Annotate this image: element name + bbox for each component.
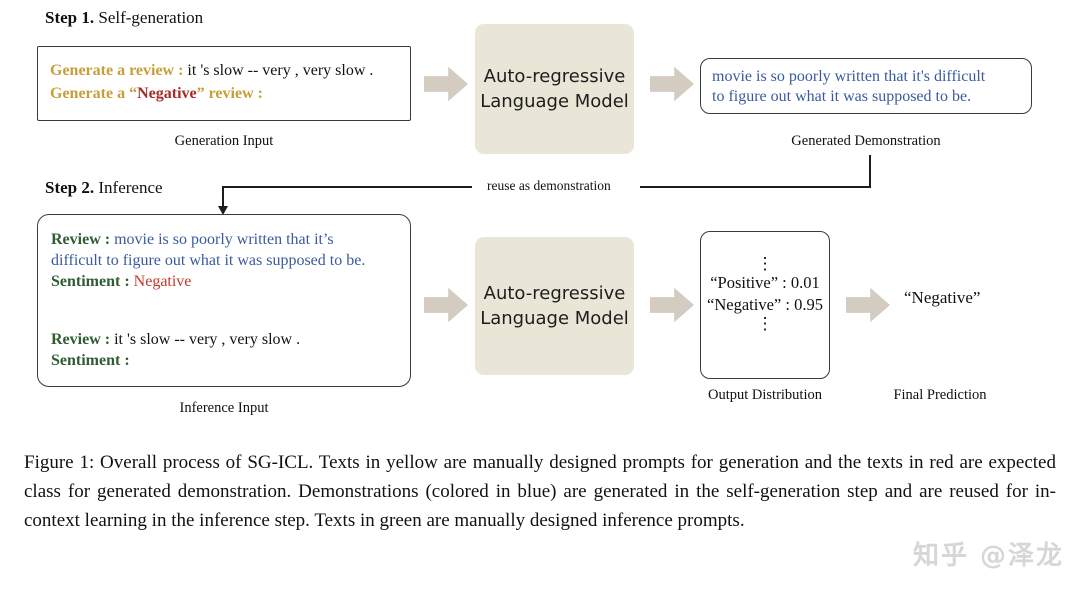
distribution-row-negative: “Negative” : 0.95 bbox=[701, 294, 829, 316]
connector-horizontal-right bbox=[640, 186, 871, 188]
inference-demo-review-line-1: Review : movie is so poorly written that… bbox=[51, 229, 334, 250]
language-model-box-1: Auto-regressive Language Model bbox=[475, 24, 634, 154]
output-distribution-content: ⋮ “Positive” : 0.01 “Negative” : 0.95 ⋮ bbox=[701, 256, 829, 332]
output-distribution-box: ⋮ “Positive” : 0.01 “Negative” : 0.95 ⋮ bbox=[700, 231, 830, 379]
inference-demo-sentiment-key: Sentiment : bbox=[51, 273, 130, 290]
generated-demo-line-2: to figure out what it was supposed to be… bbox=[712, 86, 971, 107]
generation-prompt-line-1: Generate a review : it 's slow -- very ,… bbox=[50, 60, 373, 81]
distribution-row-negative-sep: : bbox=[781, 295, 794, 314]
arrow-right-icon-1 bbox=[424, 66, 468, 102]
step-1-number: Step 1. bbox=[45, 8, 94, 27]
inference-test-sentiment-line: Sentiment : bbox=[51, 350, 130, 371]
distribution-row-negative-class: “Negative” bbox=[707, 295, 781, 314]
inference-input-box: Review : movie is so poorly written that… bbox=[37, 214, 411, 387]
generation-input-label: Generation Input bbox=[37, 133, 411, 150]
generated-demonstration-label: Generated Demonstration bbox=[700, 133, 1032, 150]
generation-input-box: Generate a review : it 's slow -- very ,… bbox=[37, 46, 411, 121]
connector-vertical-left bbox=[222, 186, 224, 208]
final-prediction-value: “Negative” bbox=[904, 288, 980, 308]
ellipsis-top-icon: ⋮ bbox=[701, 256, 829, 272]
generated-demonstration-box: movie is so poorly written that it's dif… bbox=[700, 58, 1032, 114]
step-1-title: Self-generation bbox=[98, 8, 203, 27]
inference-demo-review-text-1: movie is so poorly written that it’s bbox=[114, 231, 334, 248]
lm-box-2-line-2: Language Model bbox=[480, 306, 629, 331]
inference-demo-review-key: Review : bbox=[51, 231, 110, 248]
distribution-row-positive: “Positive” : 0.01 bbox=[701, 272, 829, 294]
final-prediction-label: Final Prediction bbox=[865, 387, 1015, 404]
step-1-heading: Step 1. Self-generation bbox=[45, 8, 203, 28]
zhihu-watermark: 知乎 @泽龙 bbox=[913, 535, 1064, 572]
connector-horizontal-left bbox=[222, 186, 472, 188]
generation-prompt-line-2: Generate a “Negative” review : bbox=[50, 83, 263, 104]
distribution-row-positive-prob: 0.01 bbox=[791, 273, 820, 292]
step-2-number: Step 2. bbox=[45, 178, 94, 197]
inference-test-sentiment-key: Sentiment : bbox=[51, 352, 130, 369]
inference-test-review-line: Review : it 's slow -- very , very slow … bbox=[51, 329, 300, 350]
generation-review-text: it 's slow -- very , very slow . bbox=[187, 62, 373, 79]
arrow-right-icon-5 bbox=[846, 287, 890, 323]
inference-test-review-key: Review : bbox=[51, 331, 110, 348]
generate-negative-prefix: Generate a “ bbox=[50, 85, 137, 102]
inference-demo-sentiment-value: Negative bbox=[134, 273, 192, 290]
figure-caption: Figure 1: Overall process of SG-ICL. Tex… bbox=[24, 448, 1056, 535]
inference-demo-sentiment-line: Sentiment : Negative bbox=[51, 271, 191, 292]
figure-canvas: Step 1. Self-generation Generate a revie… bbox=[0, 0, 1080, 600]
output-distribution-label: Output Distribution bbox=[690, 387, 840, 404]
step-2-title: Inference bbox=[98, 178, 162, 197]
generate-negative-suffix: ” review : bbox=[197, 85, 263, 102]
arrow-right-icon-3 bbox=[424, 287, 468, 323]
arrow-right-icon-2 bbox=[650, 66, 694, 102]
connector-vertical-right bbox=[869, 155, 871, 187]
lm-box-2-line-1: Auto-regressive bbox=[480, 281, 629, 306]
inference-demo-review-line-2: difficult to figure out what it was supp… bbox=[51, 250, 365, 271]
ellipsis-bottom-icon: ⋮ bbox=[701, 316, 829, 332]
distribution-row-positive-class: “Positive” bbox=[710, 273, 778, 292]
step-2-heading: Step 2. Inference bbox=[45, 178, 163, 198]
lm-box-1-line-2: Language Model bbox=[480, 89, 629, 114]
language-model-box-2: Auto-regressive Language Model bbox=[475, 237, 634, 375]
generation-expected-class: Negative bbox=[137, 85, 197, 102]
inference-input-label: Inference Input bbox=[37, 400, 411, 417]
reuse-as-demonstration-label: reuse as demonstration bbox=[487, 178, 611, 194]
arrow-right-icon-4 bbox=[650, 287, 694, 323]
lm-box-1-line-1: Auto-regressive bbox=[480, 64, 629, 89]
inference-test-review-text: it 's slow -- very , very slow . bbox=[114, 331, 300, 348]
generate-review-prompt: Generate a review : bbox=[50, 62, 183, 79]
distribution-row-positive-sep: : bbox=[778, 273, 791, 292]
generated-demo-line-1: movie is so poorly written that it's dif… bbox=[712, 66, 985, 87]
distribution-row-negative-prob: 0.95 bbox=[794, 295, 823, 314]
